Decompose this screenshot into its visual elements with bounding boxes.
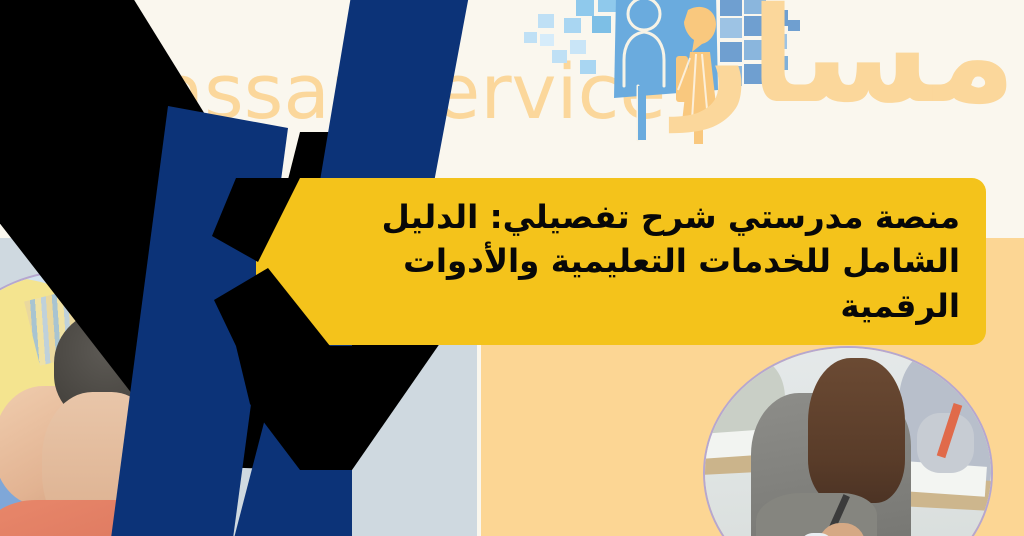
photo-right-student-hair <box>808 358 905 503</box>
student-hand-on-head-photo <box>0 272 222 536</box>
student-writing-photo <box>705 348 991 536</box>
banner-canvas: Massar Service <box>0 0 1024 536</box>
photo-left-shirt <box>0 500 150 536</box>
arabic-wordmark: مسار <box>674 0 1016 122</box>
page-title: منصة مدرستي شرح تفصيلي: الدليل الشامل لل… <box>302 195 960 328</box>
masar-logo: مسار <box>520 0 1024 174</box>
title-plate: منصة مدرستي شرح تفصيلي: الدليل الشامل لل… <box>256 178 986 345</box>
